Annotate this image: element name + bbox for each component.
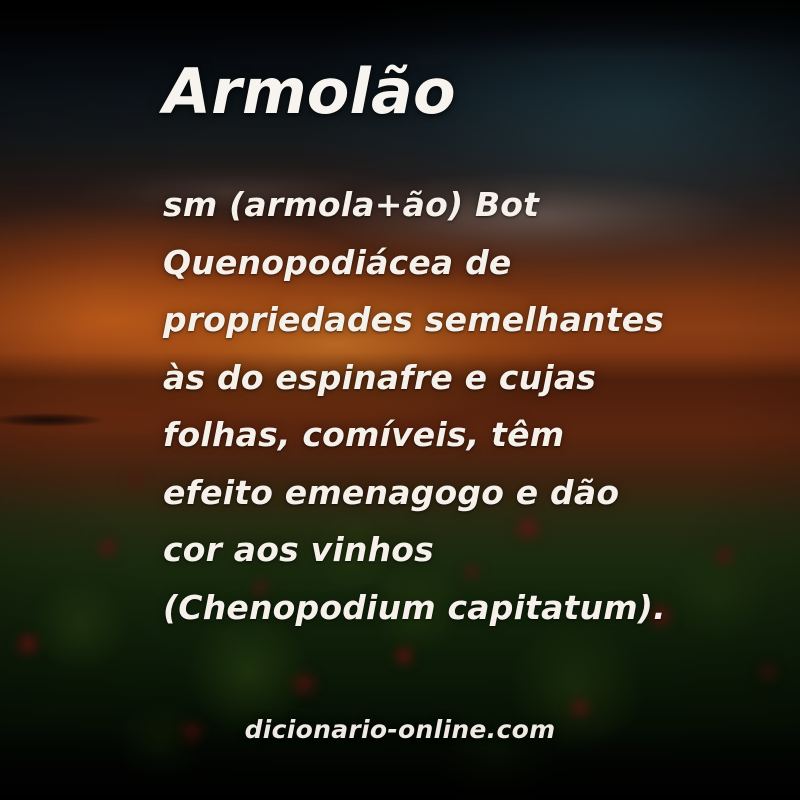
footer: dicionario-online.com	[0, 714, 800, 746]
card-content: Armolão sm (armola+ão) Bot Quenopodiácea…	[0, 0, 800, 800]
site-watermark: dicionario-online.com	[245, 714, 556, 746]
definition-line: sm (armola+ão) Bot	[163, 176, 683, 234]
definition-line: Quenopodiácea de	[163, 234, 683, 292]
definition-line: às do espinafre e cujas	[163, 349, 683, 407]
definition-line: propriedades semelhantes	[163, 291, 683, 349]
headword-title: Armolão	[163, 57, 456, 127]
definition-card: Armolão sm (armola+ão) Bot Quenopodiácea…	[0, 0, 800, 800]
definition-line: folhas, comíveis, têm	[163, 406, 683, 464]
definition-line: cor aos vinhos	[163, 521, 683, 579]
definition-line: efeito emenagogo e dão	[163, 464, 683, 522]
definition-line: (Chenopodium capitatum).	[163, 579, 683, 637]
definition-text: sm (armola+ão) Bot Quenopodiácea de prop…	[163, 176, 683, 636]
